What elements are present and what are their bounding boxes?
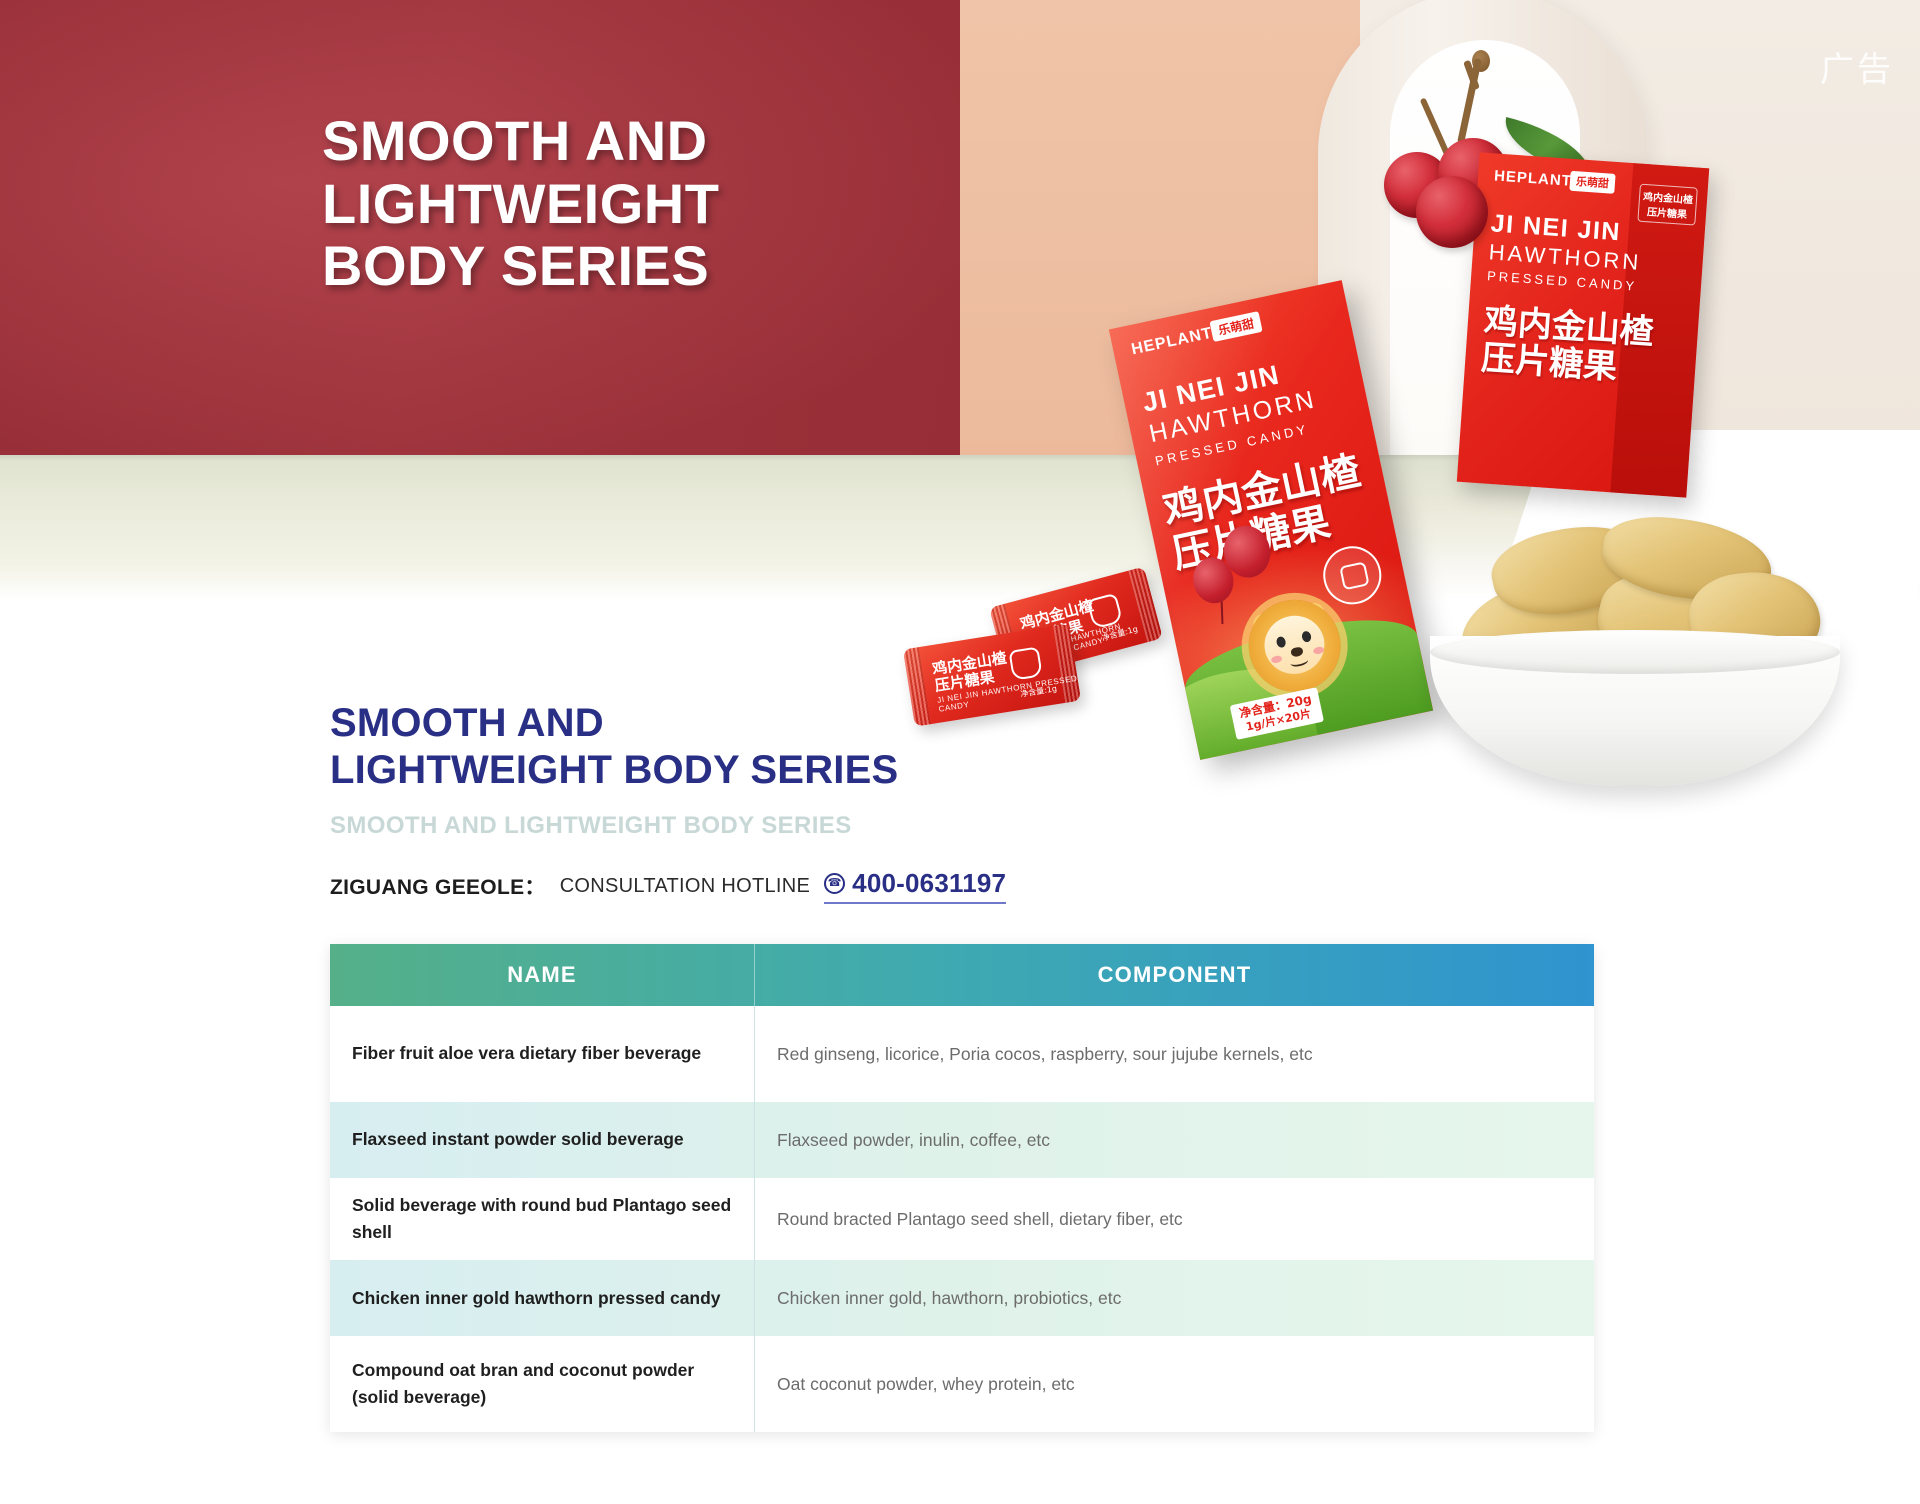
contact-hotline-label: CONSULTATION HOTLINE <box>560 875 810 898</box>
table-header-name: NAME <box>330 944 754 1006</box>
table-row: Chicken inner gold hawthorn pressed cand… <box>330 1260 1594 1336</box>
table-row: Compound oat bran and coconut powder (so… <box>330 1336 1594 1432</box>
product-table: NAME COMPONENT Fiber fruit aloe vera die… <box>330 944 1594 1432</box>
hero-banner: 广告 SMOOTH AND LIGHTWEIGHT BODY SERIES <box>0 0 1920 600</box>
table-cell-component: Round bracted Plantago seed shell, dieta… <box>754 1178 1594 1260</box>
table-cell-name: Fiber fruit aloe vera dietary fiber beve… <box>330 1006 754 1102</box>
table-header-row: NAME COMPONENT <box>330 944 1594 1006</box>
hero-title-line-2: LIGHTWEIGHT <box>322 173 962 236</box>
table-row: Flaxseed instant powder solid beverage F… <box>330 1102 1594 1178</box>
phone-icon: ☎ <box>824 873 845 894</box>
hero-title-line-3: BODY SERIES <box>322 235 962 298</box>
table-cell-component: Chicken inner gold, hawthorn, probiotics… <box>754 1260 1594 1336</box>
table-header-component: COMPONENT <box>754 944 1594 1006</box>
table-cell-name: Flaxseed instant powder solid beverage <box>330 1102 754 1178</box>
section-title: SMOOTH AND LIGHTWEIGHT BODY SERIES <box>330 700 1090 794</box>
table-cell-component: Oat coconut powder, whey protein, etc <box>754 1336 1594 1432</box>
section-title-line-1: SMOOTH AND <box>330 700 1090 747</box>
contact-brand-label: ZIGUANG GEEOLE： <box>330 871 546 901</box>
hotline-link[interactable]: ☎ 400-0631197 <box>824 868 1006 904</box>
contact-row: ZIGUANG GEEOLE： CONSULTATION HOTLINE ☎ 4… <box>330 868 1006 904</box>
advertisement-page: 广告 SMOOTH AND LIGHTWEIGHT BODY SERIES HE… <box>0 0 1920 1504</box>
table-cell-name: Solid beverage with round bud Plantago s… <box>330 1178 754 1260</box>
hero-arch-inner-shape <box>1390 40 1580 470</box>
advertisement-badge: 广告 <box>1820 42 1894 91</box>
table-cell-name: Chicken inner gold hawthorn pressed cand… <box>330 1260 754 1336</box>
section-subtitle: SMOOTH AND LIGHTWEIGHT BODY SERIES <box>330 812 852 840</box>
hero-peach-panel <box>960 0 1360 455</box>
table-cell-name: Compound oat bran and coconut powder (so… <box>330 1336 754 1432</box>
table-cell-component: Flaxseed powder, inulin, coffee, etc <box>754 1102 1594 1178</box>
hero-title-line-1: SMOOTH AND <box>322 110 962 173</box>
hotline-number: 400-0631197 <box>852 868 1006 899</box>
table-row: Fiber fruit aloe vera dietary fiber beve… <box>330 1006 1594 1102</box>
section-title-line-2: LIGHTWEIGHT BODY SERIES <box>330 747 1090 794</box>
hero-white-wedge <box>1488 430 1920 600</box>
table-cell-component: Red ginseng, licorice, Poria cocos, rasp… <box>754 1006 1594 1102</box>
table-row: Solid beverage with round bud Plantago s… <box>330 1178 1594 1260</box>
hero-title: SMOOTH AND LIGHTWEIGHT BODY SERIES <box>322 110 962 298</box>
